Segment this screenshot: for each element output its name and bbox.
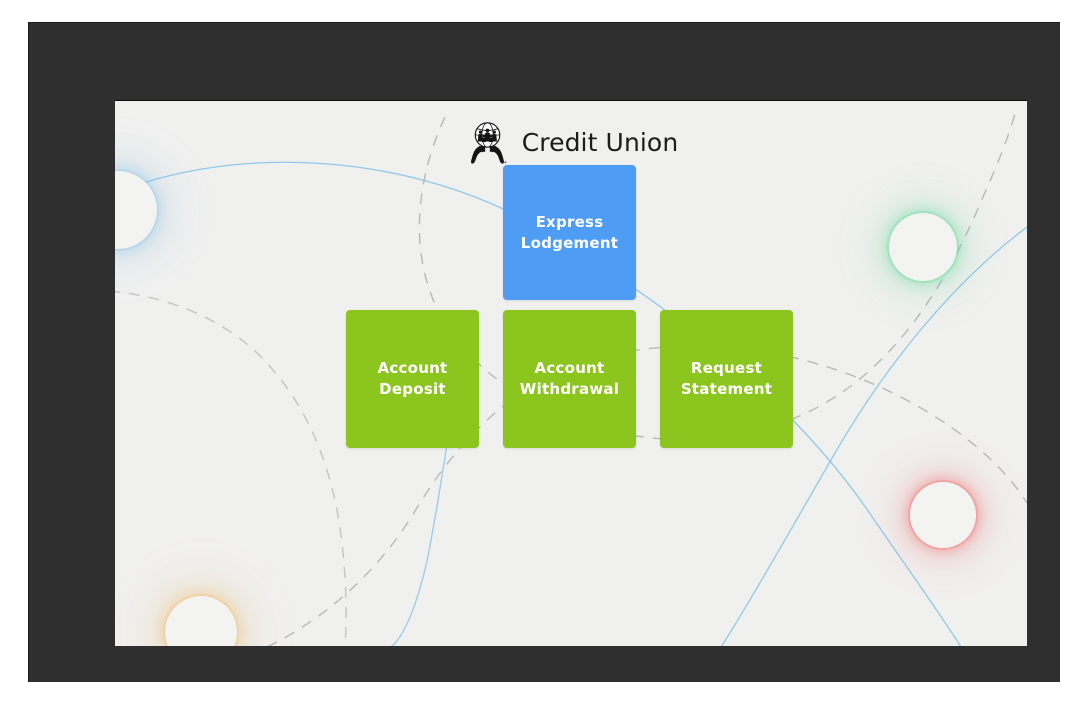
tile-express-lodgement-label: Express Lodgement — [513, 212, 626, 254]
tile-request-statement[interactable]: Request Statement — [660, 310, 793, 448]
tile-label-line-1: Account — [535, 359, 605, 377]
tile-account-deposit-label: Account Deposit — [370, 358, 456, 400]
brand-header: Credit Union — [115, 119, 1027, 166]
glow-circle-red-icon — [910, 482, 976, 548]
tile-label-line-2: Lodgement — [521, 234, 618, 252]
glow-circle-amber-icon — [165, 596, 237, 646]
app-canvas: Credit Union Express Lodgement Account D… — [115, 100, 1027, 646]
tile-request-statement-label: Request Statement — [673, 358, 780, 400]
tile-account-withdrawal-label: Account Withdrawal — [512, 358, 627, 400]
tile-label-line-1: Request — [691, 359, 762, 377]
tile-label-line-2: Withdrawal — [520, 380, 619, 398]
tile-label-line-2: Deposit — [379, 380, 446, 398]
glow-circle-green-icon — [889, 213, 957, 281]
glow-circle-blue-icon — [115, 171, 157, 249]
credit-union-hands-globe-logo-icon — [464, 119, 511, 166]
tile-express-lodgement[interactable]: Express Lodgement — [503, 165, 636, 300]
tile-label-line-1: Express — [536, 213, 604, 231]
brand-name: Credit Union — [522, 128, 679, 157]
device-frame: Credit Union Express Lodgement Account D… — [28, 22, 1060, 682]
tile-label-line-1: Account — [378, 359, 448, 377]
screenshot-root: Credit Union Express Lodgement Account D… — [0, 0, 1080, 716]
tile-account-withdrawal[interactable]: Account Withdrawal — [503, 310, 636, 448]
tile-label-line-2: Statement — [681, 380, 772, 398]
tile-account-deposit[interactable]: Account Deposit — [346, 310, 479, 448]
curve-dashed-left — [115, 291, 346, 646]
